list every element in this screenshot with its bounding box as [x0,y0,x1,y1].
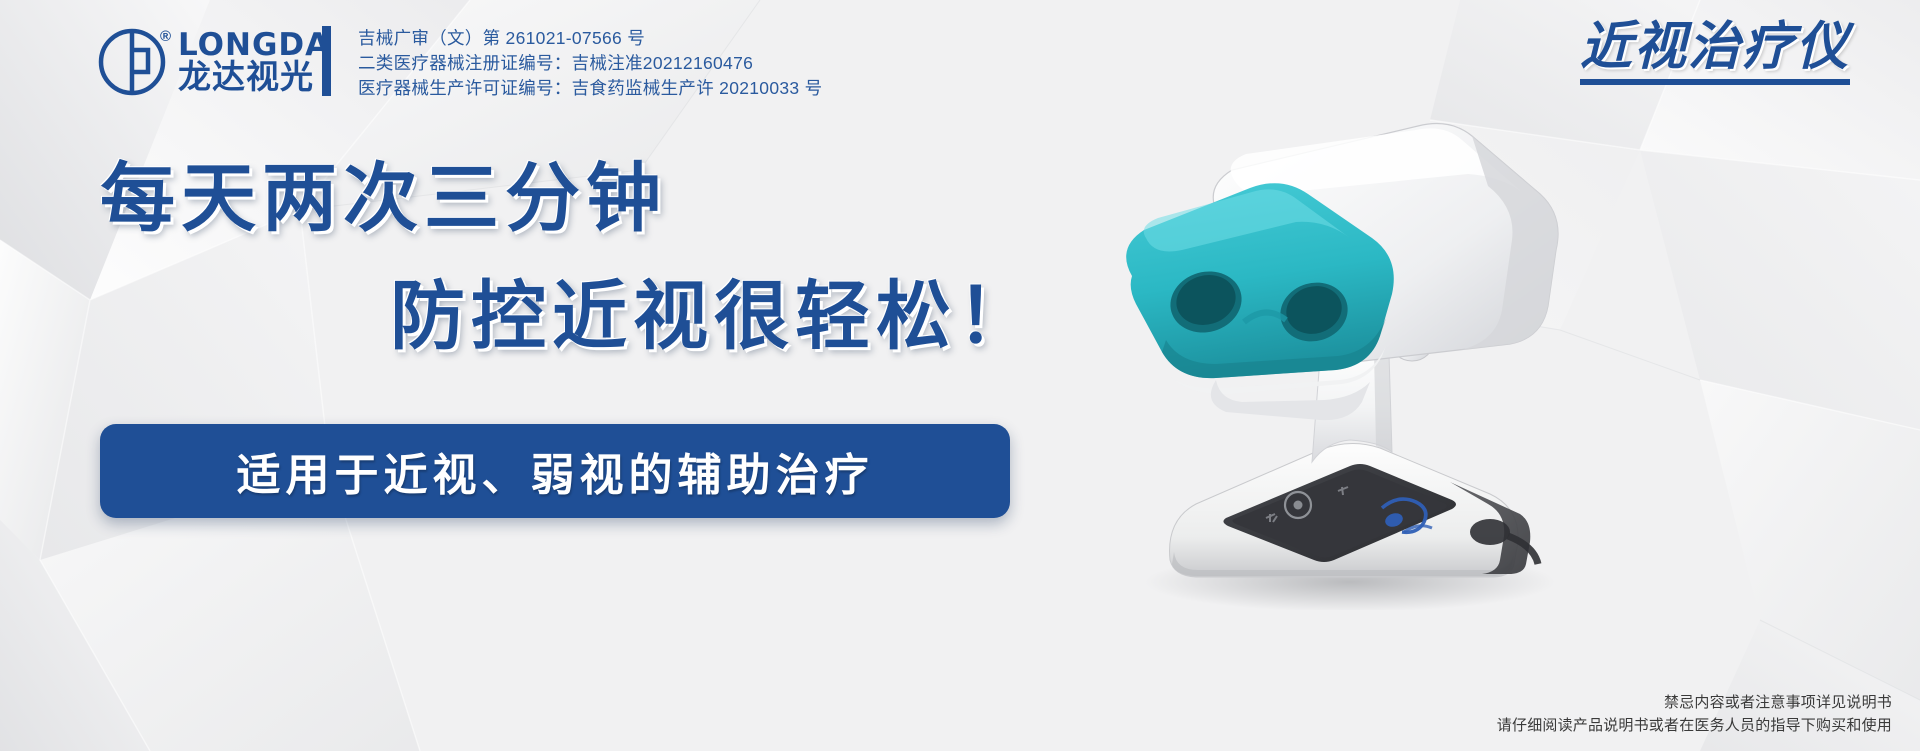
product-title-underline [1580,79,1850,85]
disclaimer-line-1: 禁忌内容或者注意事项详见说明书 [1497,691,1892,714]
brand-chinese-name: 龙达视光 [178,60,314,93]
license-line-3: 医疗器械生产许可证编号：吉食药监械生产许 20210033 号 [358,76,822,101]
product-title: 近视治疗仪 [1580,20,1850,75]
headline-block: 每天两次三分钟 防控近视很轻松！ [0,150,1060,364]
license-info-block: 吉械广审（文）第 261021-07566 号 二类医疗器械注册证编号：吉械注准… [358,26,822,101]
license-line-2: 二类医疗器械注册证编号：吉械注准20212160476 [358,51,822,76]
advertisement-banner: ® LONGDA 龙达视光 吉械广审（文）第 261021-07566 号 二类… [0,0,1920,751]
headline-line-1: 每天两次三分钟 [100,150,1060,246]
product-title-block: 近视治疗仪 [1580,20,1850,85]
disclaimer-block: 禁忌内容或者注意事项详见说明书 请仔细阅读产品说明书或者在医务人员的指导下购买和… [1497,691,1892,737]
indication-banner-text: 适用于近视、弱视的辅助治疗 [237,439,874,503]
registered-trademark-icon: ® [160,28,171,45]
product-image [1020,90,1680,610]
disclaimer-line-2: 请仔细阅读产品说明书或者在医务人员的指导下购买和使用 [1497,714,1892,737]
indication-banner: 适用于近视、弱视的辅助治疗 [100,424,1010,518]
longda-circle-mark-icon [96,26,168,98]
license-line-1: 吉械广审（文）第 261021-07566 号 [358,26,822,51]
brand-logo: ® LONGDA 龙达视光 [96,24,326,100]
headline-line-2: 防控近视很轻松！ [390,268,1060,364]
header-divider [322,26,331,96]
brand-latin-name: LONGDA [178,30,330,61]
